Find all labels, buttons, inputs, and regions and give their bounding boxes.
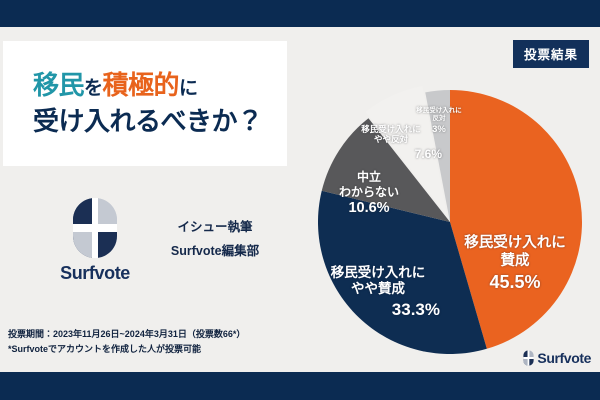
title-keyword-immigration: 移民 — [33, 70, 84, 100]
title-keyword-actively: 積極的 — [103, 70, 180, 100]
pie-label-neutral-line2: わからない — [339, 185, 399, 199]
title-particle-ni: に — [179, 78, 198, 99]
pie-label-somewhat-agree-line1: 移民受け入れに — [331, 265, 426, 280]
chart-panel: 投票結果 移民受け入れに 賛成 45.5% 移民受け入れに やや賛成 33.3%… — [300, 27, 600, 372]
brand-wordmark: Surfvote — [50, 263, 140, 284]
chart-brand-logo: Surfvote — [523, 350, 591, 366]
footnotes: 投票期間：2023年11月26日~2024年3月31日（投票数66*） *Sur… — [8, 327, 298, 357]
pie-value-somewhat-oppose: 7.6% — [338, 147, 444, 162]
author-block: イシュー執筆 Surfvote編集部 — [140, 215, 290, 264]
top-navy-bar — [0, 0, 600, 27]
pie-label-neutral: 中立 わからない 10.6% — [314, 170, 424, 218]
brand-logo-block: Surfvote — [50, 197, 140, 284]
pie-label-neutral-line1: 中立 — [357, 170, 381, 184]
left-panel: 移民を積極的に 受け入れるべきか？ Surfvote イシュー執筆 Surfvo… — [0, 27, 300, 372]
pie-label-agree-line1: 移民受け入れに — [464, 235, 566, 251]
pie-value-agree: 45.5% — [450, 272, 580, 294]
chart-brand-wordmark: Surfvote — [537, 350, 591, 366]
title-card: 移民を積極的に 受け入れるべきか？ — [3, 41, 287, 166]
title-line-1: 移民を積極的に — [33, 68, 287, 104]
pie-value-neutral: 10.6% — [314, 200, 424, 218]
voting-period-text: 投票期間：2023年11月26日~2024年3月31日（投票数66*） — [8, 327, 298, 342]
pie-label-agree-line2: 賛成 — [501, 253, 530, 269]
pie-chart: 移民受け入れに 賛成 45.5% 移民受け入れに やや賛成 33.3% 中立 わ… — [300, 27, 600, 372]
bottom-navy-bar — [0, 372, 600, 400]
pie-label-oppose-line2: 反対 — [433, 115, 446, 122]
pie-label-somewhat-agree: 移民受け入れに やや賛成 33.3% — [308, 265, 448, 321]
surfvote-logo-icon — [523, 350, 534, 366]
pie-value-somewhat-agree: 33.3% — [308, 300, 448, 321]
pie-label-agree: 移民受け入れに 賛成 45.5% — [450, 235, 580, 294]
pie-label-somewhat-oppose-line2: やや反対 — [374, 134, 408, 144]
author-name: Surfvote編集部 — [140, 239, 290, 263]
title-line-2: 受け入れるべきか？ — [33, 104, 287, 140]
surfvote-logo-icon — [72, 197, 118, 259]
author-role-label: イシュー執筆 — [140, 215, 290, 239]
title-particle-wo: を — [84, 78, 103, 99]
pie-label-somewhat-agree-line2: やや賛成 — [351, 281, 405, 296]
pie-label-oppose-line1: 移民受け入れに — [416, 107, 462, 114]
eligibility-note-text: *Surfvoteでアカウントを作成した人が投票可能 — [8, 342, 298, 357]
pie-value-oppose: 3% — [396, 124, 482, 136]
pie-label-oppose: 移民受け入れに 反対 3% — [396, 107, 482, 135]
